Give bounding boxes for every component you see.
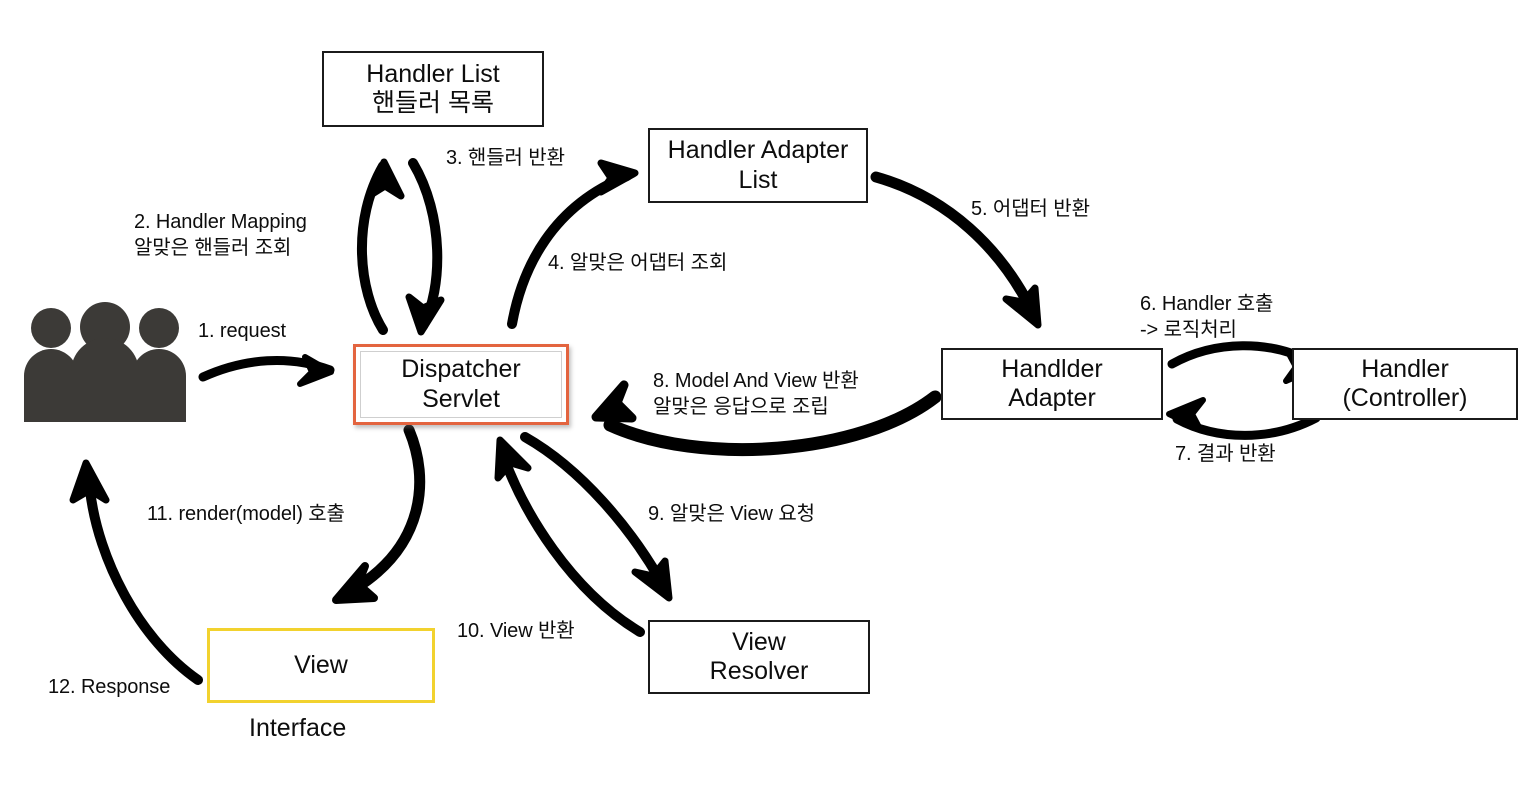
node-handler-list-label: Handler List 핸들러 목록 bbox=[366, 60, 499, 119]
node-handler-controller-label: Handler (Controller) bbox=[1342, 355, 1467, 414]
node-view-resolver[interactable]: View Resolver bbox=[648, 620, 870, 694]
diagram-canvas: .ar { fill:none; stroke:#000000; stroke-… bbox=[0, 0, 1528, 800]
node-view-label: View bbox=[294, 651, 348, 681]
caption-interface: Interface bbox=[249, 714, 346, 743]
arrow-10-view-return bbox=[498, 440, 640, 632]
arrow-3-handler-return bbox=[409, 163, 441, 332]
edge-label-10: 10. View 반환 bbox=[457, 618, 575, 644]
arrow-2-handler-mapping bbox=[362, 162, 401, 330]
node-handler-controller[interactable]: Handler (Controller) bbox=[1292, 348, 1518, 420]
edge-label-9: 9. 알맞은 View 요청 bbox=[648, 501, 815, 527]
node-handler-adapter-list[interactable]: Handler Adapter List bbox=[648, 128, 868, 203]
edge-label-5: 5. 어댑터 반환 bbox=[971, 196, 1090, 222]
edge-label-6: 6. Handler 호출 -> 로직처리 bbox=[1140, 291, 1273, 344]
edge-label-1: 1. request bbox=[198, 318, 286, 344]
node-handler-list[interactable]: Handler List 핸들러 목록 bbox=[322, 51, 544, 127]
edge-label-4: 4. 알맞은 어댑터 조회 bbox=[548, 250, 727, 276]
node-handler-adapter[interactable]: Handlder Adapter bbox=[941, 348, 1163, 420]
arrow-4-adapter-lookup bbox=[512, 163, 635, 324]
node-view-resolver-label: View Resolver bbox=[710, 628, 809, 687]
people-icon bbox=[20, 300, 190, 422]
edge-label-7: 7. 결과 반환 bbox=[1175, 441, 1276, 467]
node-handler-adapter-list-label: Handler Adapter List bbox=[668, 136, 849, 195]
node-dispatcher-servlet[interactable]: Dispatcher Servlet bbox=[353, 344, 569, 425]
node-dispatcher-servlet-label: Dispatcher Servlet bbox=[401, 355, 521, 414]
arrow-11-render-model bbox=[336, 430, 420, 600]
edge-label-2: 2. Handler Mapping 알맞은 핸들러 조회 bbox=[134, 209, 307, 262]
edge-label-11: 11. render(model) 호출 bbox=[147, 501, 345, 527]
edge-label-8: 8. Model And View 반환 알맞은 응답으로 조립 bbox=[653, 368, 859, 421]
edge-label-3: 3. 핸들러 반환 bbox=[446, 145, 565, 171]
edge-label-12: 12. Response bbox=[48, 674, 170, 700]
arrow-12-response bbox=[73, 463, 198, 680]
node-handler-adapter-label: Handlder Adapter bbox=[1001, 355, 1102, 414]
arrow-1-request bbox=[203, 357, 331, 384]
node-view[interactable]: View bbox=[207, 628, 435, 703]
